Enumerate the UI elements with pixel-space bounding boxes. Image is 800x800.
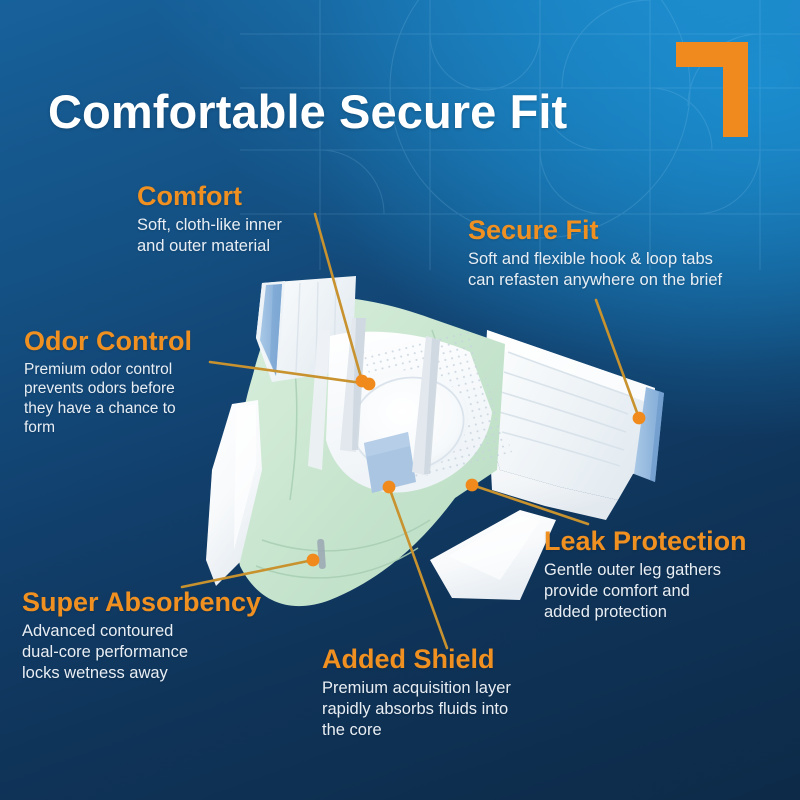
callout-added-shield: Added Shield Premium acquisition layer r… [322,645,511,741]
callout-super-absorbency-title: Super Absorbency [22,588,261,616]
product-standing-gathers [308,318,440,476]
leader-line-super-absorbency [182,560,313,587]
callout-added-shield-line-3: the core [322,720,511,741]
leader-dot-added-shield [383,481,396,494]
leader-dot-super-absorbency [307,554,320,567]
callout-super-absorbency-line-2: dual-core performance [22,642,261,663]
callout-comfort-body: Soft, cloth-like inner and outer materia… [137,215,282,257]
callout-odor-control-line-1: Premium odor control [24,360,192,379]
callout-leak-protection-line-2: provide comfort and [544,581,747,602]
callout-comfort: Comfort Soft, cloth-like inner and outer… [137,182,282,257]
product-left-lower-flap [206,400,326,586]
callout-secure-fit-line-1: Soft and flexible hook & loop tabs [468,249,722,270]
leader-line-secure-fit [596,300,639,418]
leader-dot-comfort [356,375,369,388]
callout-added-shield-line-1: Premium acquisition layer [322,678,511,699]
callout-secure-fit: Secure Fit Soft and flexible hook & loop… [468,216,722,291]
product-back-panel [486,330,664,520]
callout-secure-fit-body: Soft and flexible hook & loop tabs can r… [468,249,722,291]
callout-added-shield-body: Premium acquisition layer rapidly absorb… [322,678,511,741]
callout-super-absorbency-line-1: Advanced contoured [22,621,261,642]
leader-line-comfort [315,214,362,381]
callout-secure-fit-title: Secure Fit [468,216,722,244]
leader-dot-secure-fit [633,412,646,425]
callout-odor-control-line-3: they have a chance to [24,399,192,418]
callout-odor-control: Odor Control Premium odor control preven… [24,327,192,437]
callout-odor-control-body: Premium odor control prevents odors befo… [24,360,192,437]
product-left-tab [256,276,356,382]
callout-odor-control-line-2: prevents odors before [24,379,192,398]
leader-dot-leak-protection [466,479,479,492]
callout-leak-protection-body: Gentle outer leg gathers provide comfort… [544,560,747,623]
callout-added-shield-line-2: rapidly absorbs fluids into [322,699,511,720]
callout-leak-protection-line-1: Gentle outer leg gathers [544,560,747,581]
callout-leak-protection-title: Leak Protection [544,527,747,555]
infographic-canvas: Comfortable Secure Fit [0,0,800,800]
leader-line-added-shield [389,487,447,648]
callout-odor-control-line-4: form [24,418,192,437]
callout-odor-control-title: Odor Control [24,327,192,355]
callout-super-absorbency-body: Advanced contoured dual-core performance… [22,621,261,684]
product-lower-right-flap [430,510,556,600]
callout-secure-fit-line-2: can refasten anywhere on the brief [468,270,722,291]
callout-comfort-title: Comfort [137,182,282,210]
product-absorbent-core [326,320,530,510]
leader-line-leak-protection [472,485,588,524]
callout-leak-protection: Leak Protection Gentle outer leg gathers… [544,527,747,623]
callout-added-shield-title: Added Shield [322,645,511,673]
callout-super-absorbency-line-3: locks wetness away [22,663,261,684]
callout-super-absorbency: Super Absorbency Advanced contoured dual… [22,588,261,684]
callout-comfort-line-1: Soft, cloth-like inner [137,215,282,236]
page-title: Comfortable Secure Fit [48,84,567,139]
leader-line-odor-control [210,362,369,384]
callout-comfort-line-2: and outer material [137,236,282,257]
product-chassis [234,297,505,606]
leader-dot-odor-control [363,378,376,391]
corner-bracket-icon [676,42,748,137]
callout-leak-protection-line-3: added protection [544,602,747,623]
